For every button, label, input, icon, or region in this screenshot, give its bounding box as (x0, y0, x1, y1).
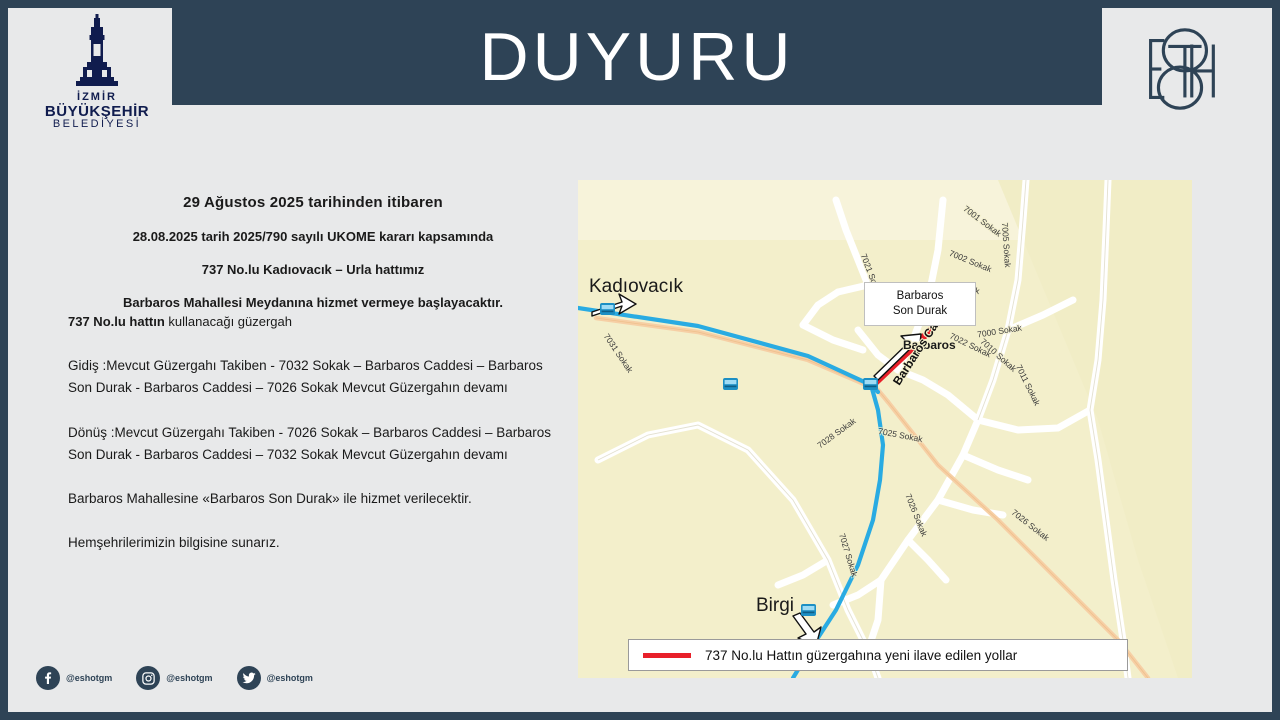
legend-text: 737 No.lu Hattın güzergahına yeni ilave … (705, 648, 1017, 663)
izmir-clock-tower-icon (61, 14, 133, 92)
callout-line-1: Barbaros (897, 289, 944, 304)
announcement-text-column: 29 Ağustos 2025 tarihinden itibaren 28.0… (68, 194, 558, 575)
logo-line-2: BÜYÜKŞEHİR (45, 104, 149, 120)
route-outbound-paragraph: Gidiş :Mevcut Güzergahı Takiben - 7032 S… (68, 355, 558, 400)
social-link-twitter[interactable]: @eshotgm (237, 666, 313, 690)
service-note-paragraph: Barbaros Mahallesine «Barbaros Son Durak… (68, 488, 558, 510)
logo-line-3: BELEDİYESİ (53, 119, 141, 131)
social-handle: @eshotgm (66, 673, 112, 683)
map-graphics (578, 180, 1192, 678)
eshot-logo (1110, 14, 1250, 130)
eshot-monogram-icon (1131, 21, 1229, 124)
izmir-municipality-logo: İZMİR BÜYÜKŞEHİR BELEDİYESİ (32, 14, 162, 140)
route-intro-bold: 737 No.lu hattın (68, 314, 165, 329)
facebook-icon (36, 666, 60, 690)
route-intro: 737 No.lu hattın kullanacağı güzergah (68, 314, 558, 329)
closing-paragraph: Hemşehrilerimizin bilgisine sunarız. (68, 532, 558, 554)
header: DUYURU (8, 8, 1272, 105)
announcement-subline-1: 28.08.2025 tarih 2025/790 sayılı UKOME k… (68, 229, 558, 244)
route-intro-rest: kullanacağı güzergah (165, 314, 292, 329)
twitter-icon (237, 666, 261, 690)
route-return-paragraph: Dönüş :Mevcut Güzergahı Takiben - 7026 S… (68, 422, 558, 467)
route-map[interactable]: 7001 Sokak 7002 Sokak 1 Sokak 7005 Sokak… (578, 180, 1192, 678)
social-footer: @eshotgm @eshotgm @eshotgm (36, 666, 327, 690)
announcement-headline: 29 Ağustos 2025 tarihinden itibaren (68, 194, 558, 211)
social-link-facebook[interactable]: @eshotgm (36, 666, 112, 690)
announcement-slide: DUYURU (8, 8, 1272, 712)
social-handle: @eshotgm (267, 673, 313, 683)
map-callout-barbaros-son-durak: Barbaros Son Durak (864, 282, 976, 326)
announcement-subline-3: Barbaros Mahallesi Meydanına hizmet verm… (68, 295, 558, 310)
page-title: DUYURU (172, 8, 1102, 105)
map-legend: 737 No.lu Hattın güzergahına yeni ilave … (628, 639, 1128, 671)
social-handle: @eshotgm (166, 673, 212, 683)
announcement-subline-2: 737 No.lu Kadıovacık – Urla hattımız (68, 262, 558, 277)
legend-color-swatch (643, 653, 691, 658)
callout-line-2: Son Durak (893, 304, 947, 319)
social-link-instagram[interactable]: @eshotgm (136, 666, 212, 690)
logo-line-1: İZMİR (77, 92, 117, 104)
instagram-icon (136, 666, 160, 690)
